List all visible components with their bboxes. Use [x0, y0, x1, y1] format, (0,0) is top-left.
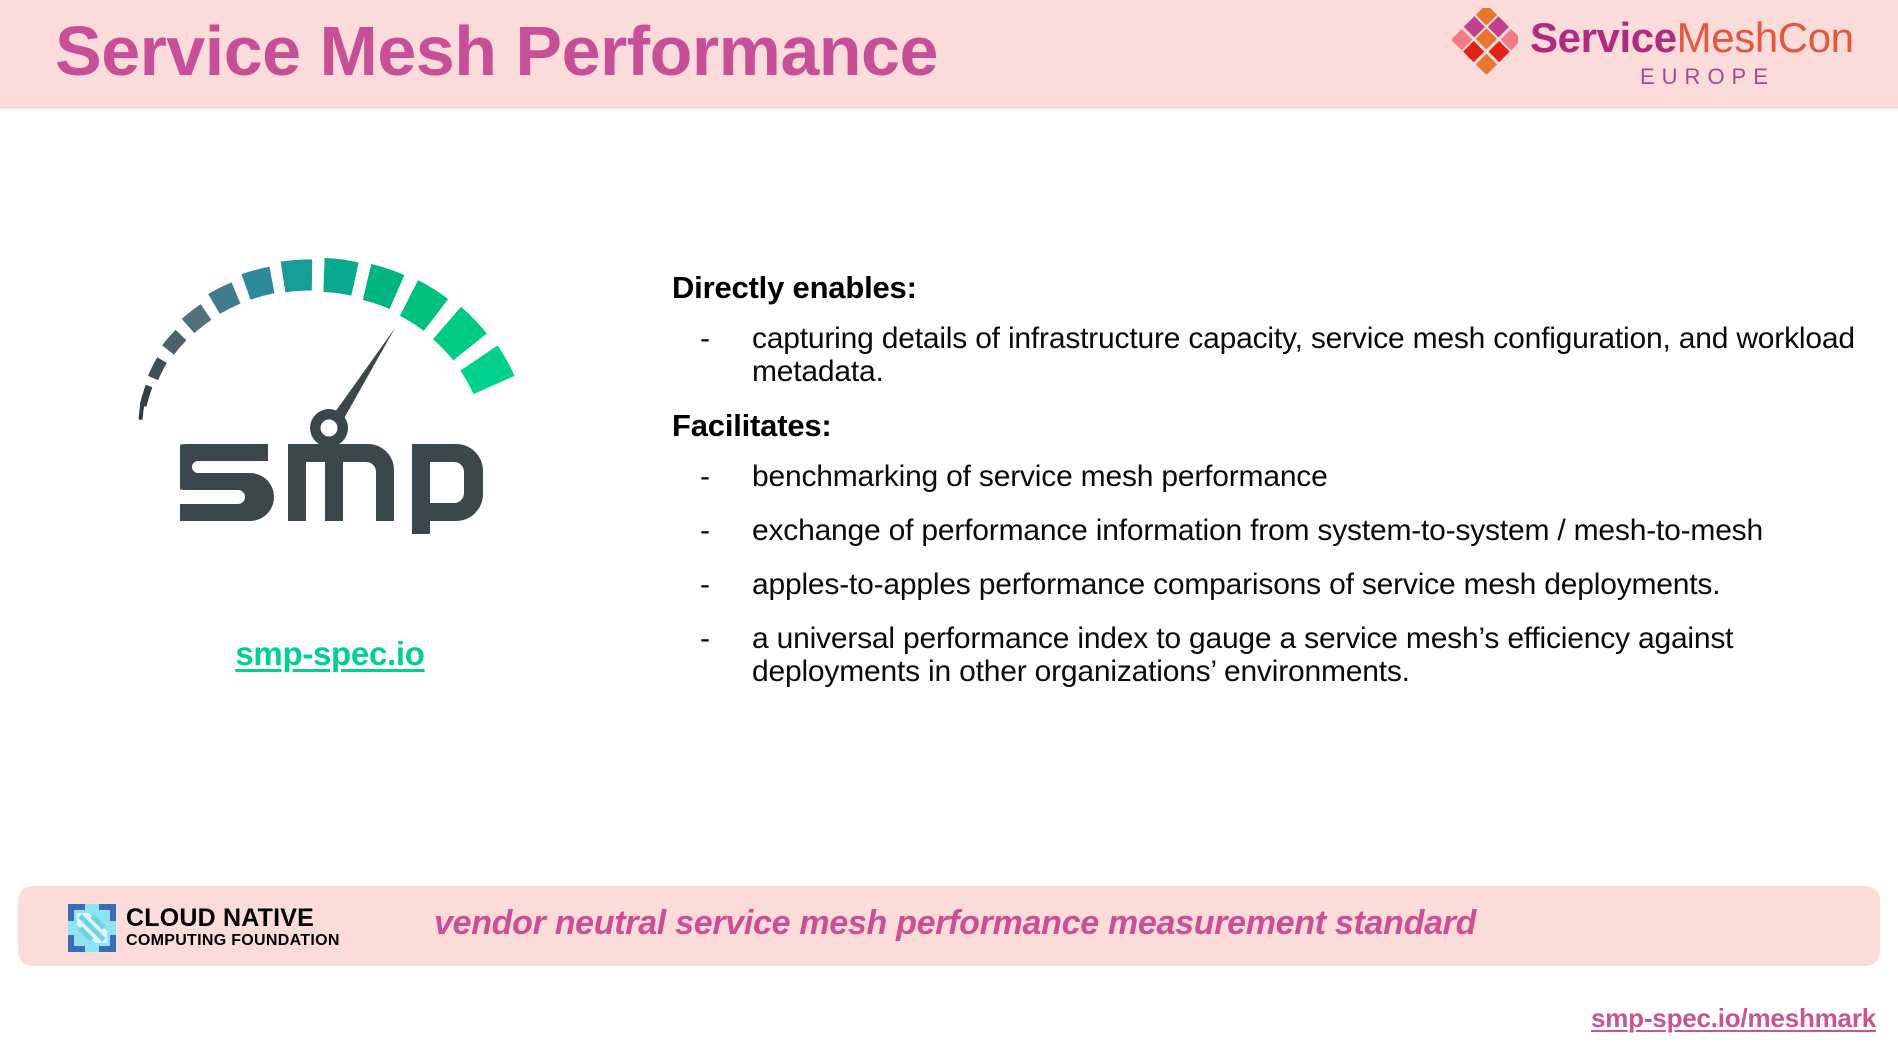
servicemeshcon-diamond-mesh-icon — [1452, 8, 1518, 74]
list-item: - capturing details of infrastructure ca… — [672, 322, 1872, 388]
cncf-name-line2: COMPUTING FOUNDATION — [126, 931, 340, 951]
cncf-logo-icon — [68, 904, 116, 952]
brand-word-meshcon: MeshCon — [1677, 14, 1854, 61]
brand-word-service: Service — [1530, 14, 1677, 61]
bullet-marker-icon: - — [700, 622, 710, 655]
list-item-text: exchange of performance information from… — [752, 514, 1763, 547]
list-item-text: benchmarking of service mesh performance — [752, 460, 1328, 493]
list-item-text: apples-to-apples performance comparisons… — [752, 568, 1720, 601]
footer-tagline: vendor neutral service mesh performance … — [434, 904, 1476, 943]
list-item: - exchange of performance information fr… — [672, 514, 1872, 547]
list-item-text: capturing details of infrastructure capa… — [752, 322, 1855, 388]
smp-wordmark — [180, 430, 485, 535]
servicemeshcon-logo: ServiceMeshCon EUROPE — [1444, 2, 1884, 106]
servicemeshcon-wordmark: ServiceMeshCon — [1530, 10, 1854, 66]
list-item-text: a universal performance index to gauge a… — [752, 622, 1733, 688]
list-item: - benchmarking of service mesh performan… — [672, 460, 1872, 493]
bullet-marker-icon: - — [700, 322, 710, 355]
bullet-marker-icon: - — [700, 460, 710, 493]
cncf-name-line1: CLOUD NATIVE — [126, 904, 314, 932]
list-item: - a universal performance index to gauge… — [672, 622, 1872, 688]
bullet-marker-icon: - — [700, 514, 710, 547]
smp-spec-link[interactable]: smp-spec.io — [60, 635, 600, 673]
meshmark-link[interactable]: smp-spec.io/meshmark — [1591, 1003, 1876, 1034]
bullet-list-directly-enables: - capturing details of infrastructure ca… — [672, 322, 1872, 388]
list-item: - apples-to-apples performance compariso… — [672, 568, 1872, 601]
cncf-logo: CLOUD NATIVE COMPUTING FOUNDATION — [68, 898, 328, 954]
brand-region-label: EUROPE — [1640, 64, 1775, 90]
performance-gauge-icon — [80, 190, 560, 450]
bullet-list-facilitates: - benchmarking of service mesh performan… — [672, 460, 1872, 688]
section-heading-directly-enables: Directly enables: — [672, 268, 1872, 308]
section-heading-facilitates: Facilitates: — [672, 406, 1872, 446]
smp-logo-block: smp-spec.io — [60, 180, 600, 680]
bullet-marker-icon: - — [700, 568, 710, 601]
content-panel: Directly enables: - capturing details of… — [672, 268, 1872, 702]
page-title: Service Mesh Performance — [55, 8, 938, 94]
